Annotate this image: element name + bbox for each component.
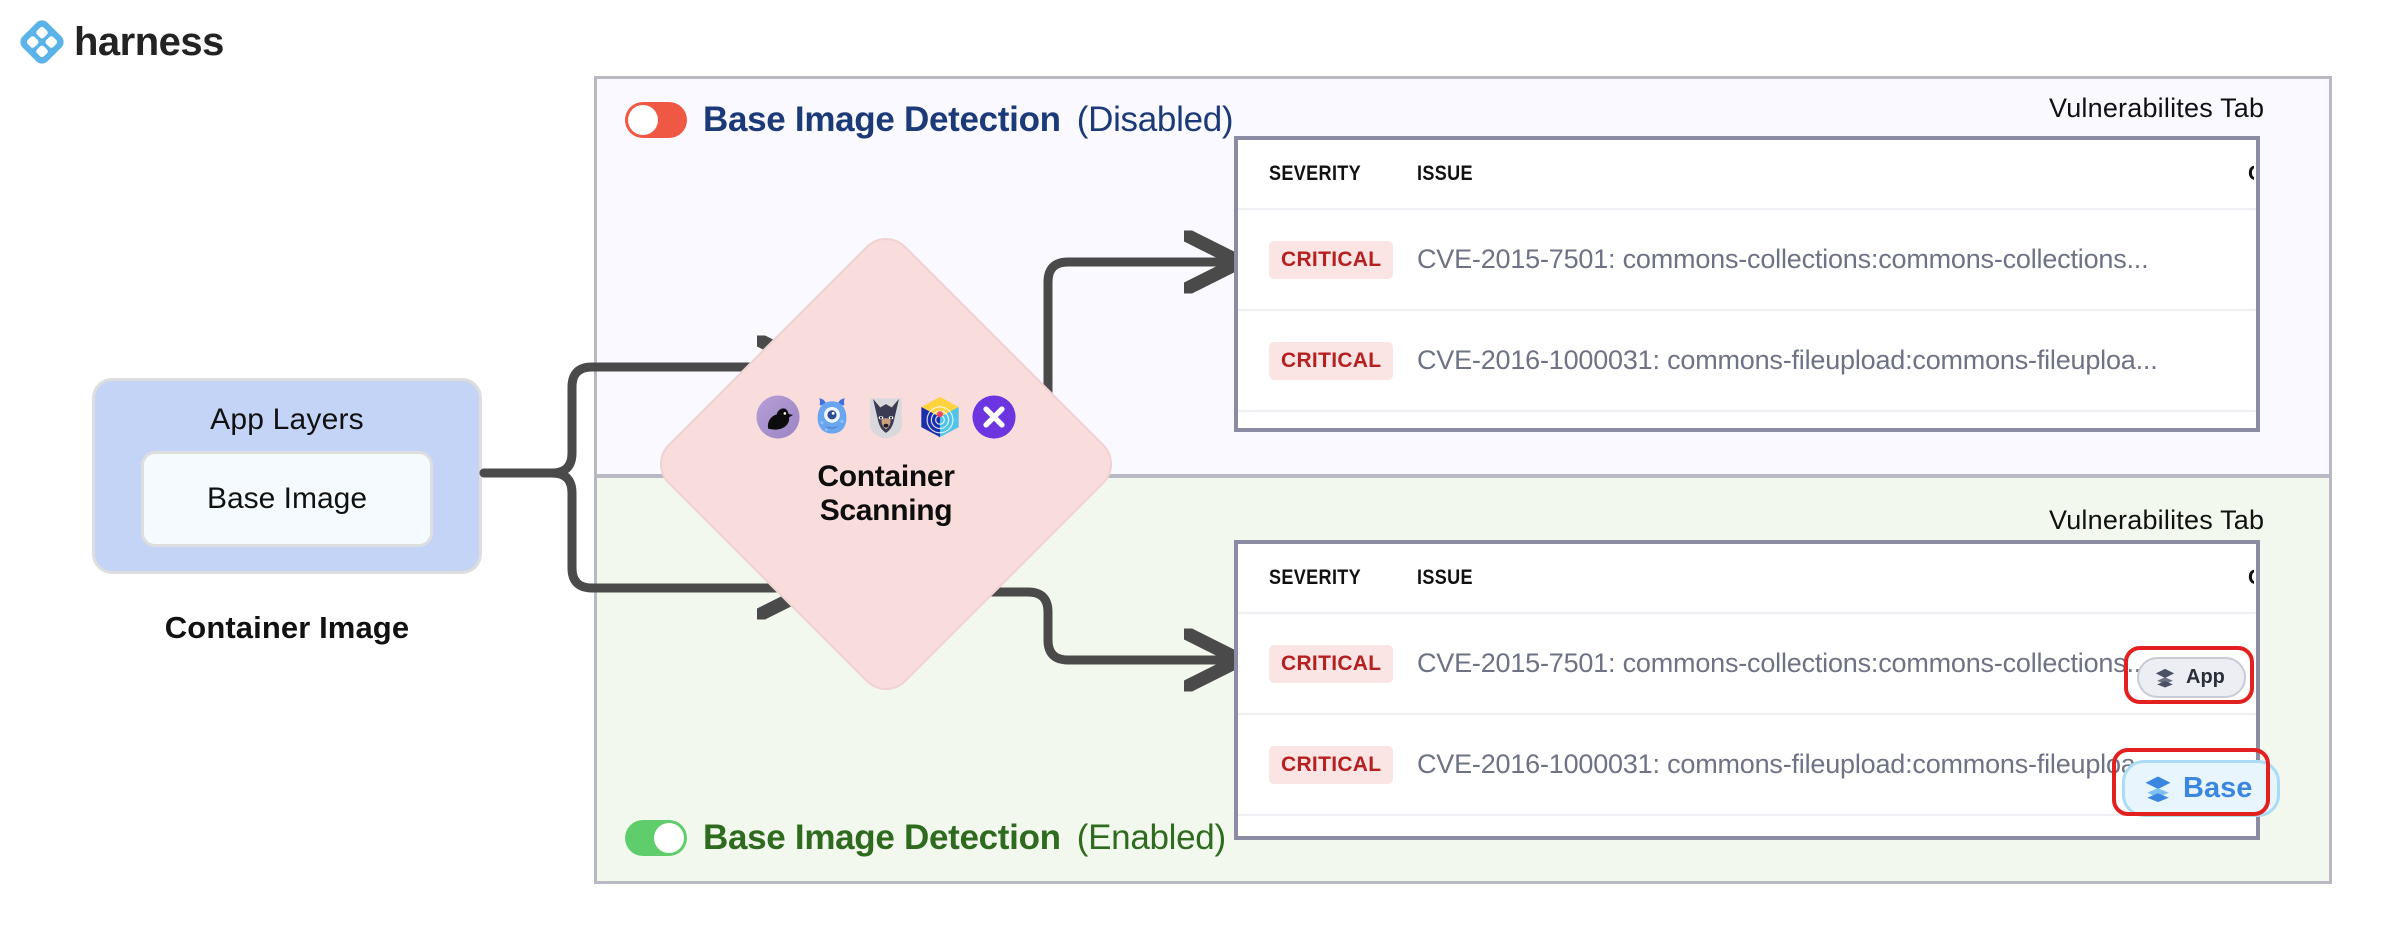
- container-scanning-content: Container Scanning: [718, 296, 1054, 632]
- base-image-detection-toggle-on[interactable]: [625, 820, 687, 856]
- severity-cell: CRITICAL: [1269, 746, 1417, 784]
- column-header-cutoff: C: [2248, 566, 2254, 590]
- diagram-canvas: harness App Layers Base Image Container …: [0, 0, 2384, 946]
- severity-cell: CRITICAL: [1269, 645, 1417, 683]
- anchore-monster-icon: [809, 394, 855, 440]
- table-row-partial: [1238, 814, 2256, 840]
- toggle-state-enabled: (Enabled): [1077, 818, 1226, 858]
- scanner-icon-row: [755, 394, 1017, 440]
- vulnerabilities-table-disabled: SEVERITY ISSUE C CRITICAL CVE-2015-7501:…: [1234, 136, 2260, 432]
- status-badge: CRITICAL: [1269, 342, 1393, 380]
- harness-wordmark: harness: [74, 22, 224, 62]
- base-image-box: Base Image: [141, 451, 433, 547]
- issue-cell[interactable]: CVE-2015-7501: commons-collections:commo…: [1417, 648, 2148, 679]
- aqua-security-dog-icon: [863, 394, 909, 440]
- severity-cell: CRITICAL: [1269, 342, 1417, 380]
- scanning-title-line2: Scanning: [817, 494, 954, 528]
- annotation-box-base: [2112, 748, 2270, 816]
- status-badge: CRITICAL: [1269, 241, 1393, 279]
- toggle-row-base-image-detection-enabled[interactable]: Base Image Detection (Enabled): [625, 818, 1226, 858]
- status-badge: CRITICAL: [1269, 746, 1393, 784]
- toggle-state-disabled: (Disabled): [1077, 100, 1234, 140]
- harness-diamond-logo-icon: [20, 20, 64, 64]
- app-layers-box: App Layers Base Image: [92, 378, 482, 574]
- harness-logo: harness: [20, 20, 224, 64]
- status-badge: CRITICAL: [1269, 645, 1393, 683]
- annotation-box-app: [2124, 646, 2254, 704]
- column-header-severity[interactable]: SEVERITY: [1269, 162, 1396, 186]
- table-header-row: SEVERITY ISSUE: [1238, 544, 2256, 612]
- container-image-caption: Container Image: [92, 610, 482, 646]
- table-row[interactable]: CRITICAL CVE-2015-7501: commons-collecti…: [1238, 612, 2256, 713]
- base-image-label: Base Image: [207, 482, 367, 516]
- vulnerabilities-tab-caption-bottom: Vulnerabilites Tab: [2049, 505, 2264, 536]
- column-header-issue[interactable]: ISSUE: [1417, 566, 2139, 590]
- prisma-cloud-x-icon: [971, 394, 1017, 440]
- table-row-partial: [1238, 410, 2256, 432]
- issue-cell[interactable]: CVE-2016-1000031: commons-fileupload:com…: [1417, 345, 2158, 376]
- table-row[interactable]: CRITICAL CVE-2016-1000031: commons-fileu…: [1238, 713, 2256, 814]
- severity-cell: CRITICAL: [1269, 241, 1417, 279]
- black-duck-icon: [755, 394, 801, 440]
- column-header-issue[interactable]: ISSUE: [1417, 162, 2139, 186]
- vulnerabilities-table-enabled: SEVERITY ISSUE C CRITICAL CVE-2015-7501:…: [1234, 540, 2260, 840]
- table-row[interactable]: CRITICAL CVE-2016-1000031: commons-fileu…: [1238, 309, 2256, 410]
- container-scanning-title: Container Scanning: [817, 460, 954, 527]
- scanning-title-line1: Container: [817, 460, 954, 494]
- toggle-knob: [654, 823, 684, 853]
- toggle-knob: [628, 105, 658, 135]
- toggle-row-base-image-detection-disabled[interactable]: Base Image Detection (Disabled): [625, 100, 1233, 140]
- column-header-severity[interactable]: SEVERITY: [1269, 566, 1396, 590]
- column-header-cutoff: C: [2248, 162, 2254, 186]
- vulnerabilities-tab-caption-top: Vulnerabilites Tab: [2049, 93, 2264, 124]
- issue-cell[interactable]: CVE-2016-1000031: commons-fileupload:com…: [1417, 749, 2158, 780]
- issue-cell[interactable]: CVE-2015-7501: commons-collections:commo…: [1417, 244, 2148, 275]
- table-header-row: SEVERITY ISSUE: [1238, 140, 2256, 208]
- base-image-detection-toggle-off[interactable]: [625, 102, 687, 138]
- sysdig-cube-icon: [917, 394, 963, 440]
- table-row[interactable]: CRITICAL CVE-2015-7501: commons-collecti…: [1238, 208, 2256, 309]
- app-layers-label: App Layers: [210, 403, 364, 437]
- container-image-group: App Layers Base Image Container Image: [92, 378, 482, 646]
- toggle-label-disabled: Base Image Detection: [703, 100, 1061, 140]
- toggle-label-enabled: Base Image Detection: [703, 818, 1061, 858]
